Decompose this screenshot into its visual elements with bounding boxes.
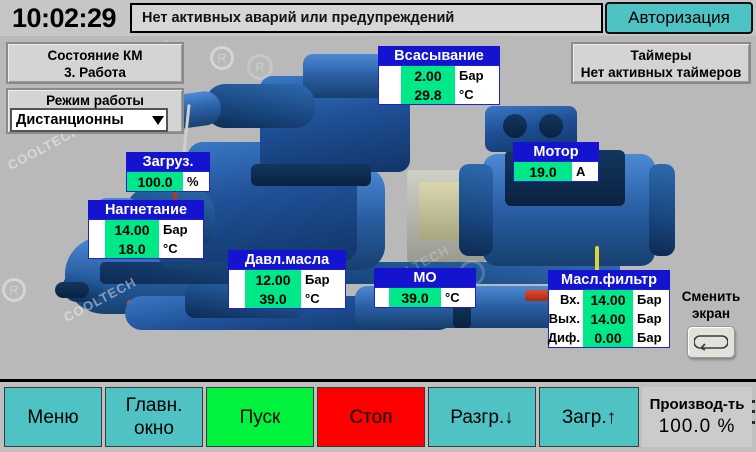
capacity-value: 100.0 % (659, 415, 736, 439)
motor-panel: Мотор 19.0 A (513, 142, 599, 182)
table-row: 18.0 °C (89, 239, 203, 258)
oil-pressure-rows: 12.00 Бар 39.0 °C (228, 269, 346, 309)
capacity-title: Производ-ть (650, 395, 745, 415)
motor-panel-title: Мотор (513, 142, 599, 161)
oil-filter-rows: Вх. 14.00 Бар Вых. 14.00 Бар Диф. 0.00 Б… (548, 289, 670, 348)
change-screen-label-line2: экран (668, 305, 754, 322)
discharge-panel: Нагнетание 14.00 Бар 18.0 °C (88, 200, 204, 259)
oil-filter-diff-unit: Бар (633, 328, 669, 347)
mo-panel: МО 39.0 °C (374, 268, 476, 308)
clock-display: 10:02:29 (0, 0, 128, 36)
suction-temperature-unit: °C (455, 85, 499, 104)
discharge-pressure-value: 14.00 (105, 220, 159, 239)
mo-panel-rows: 39.0 °C (374, 287, 476, 308)
oil-filter-diff-value: 0.00 (583, 328, 633, 347)
alarm-status-bar: Нет активных аварий или предупреждений (130, 3, 603, 33)
change-screen-button[interactable] (687, 326, 735, 358)
right-edge-indicator (751, 396, 755, 428)
oil-filter-inlet-value: 14.00 (583, 290, 633, 309)
start-button[interactable]: Пуск (206, 387, 314, 447)
oil-filter-inlet-unit: Бар (633, 290, 669, 309)
oil-filter-outlet-value: 14.00 (583, 309, 633, 328)
discharge-temperature-unit: °C (159, 239, 203, 258)
motor-current-unit: A (572, 162, 598, 181)
table-row: 14.00 Бар (89, 220, 203, 239)
table-row: 2.00 Бар (379, 66, 499, 85)
table-row: Вых. 14.00 Бар (549, 309, 669, 328)
chevron-down-icon[interactable] (152, 116, 164, 125)
discharge-row1-label (89, 239, 105, 258)
timers-value: Нет активных таймеров (573, 64, 749, 81)
capacity-readout: Производ-ть 100.0 % (642, 387, 752, 447)
unload-button[interactable]: Разгр.↓ (428, 387, 536, 447)
suction-panel-title: Всасывание (378, 46, 500, 65)
main-window-label-line2: окно (126, 417, 183, 440)
motor-panel-rows: 19.0 A (513, 161, 599, 182)
discharge-temperature-value: 18.0 (105, 239, 159, 258)
table-row: 39.0 °C (375, 288, 475, 307)
main-process-view: COOLTECH COOLTECH COOLTECH COOLTECH Сост… (0, 36, 756, 379)
load-button[interactable]: Загр.↑ (539, 387, 639, 447)
discharge-panel-rows: 14.00 Бар 18.0 °C (88, 219, 204, 259)
operating-mode-title: Режим работы (8, 92, 182, 109)
top-status-bar: 10:02:29 Нет активных аварий или предупр… (0, 0, 756, 36)
oil-pressure-unit: Бар (301, 270, 345, 289)
table-row: 29.8 °C (379, 85, 499, 104)
compressor-state-title: Состояние КМ (8, 47, 182, 64)
screen-switch-icon (694, 333, 728, 351)
suction-temperature-value: 29.8 (401, 85, 455, 104)
oil-pressure-row0-label (229, 270, 245, 289)
oil-filter-diff-label: Диф. (549, 328, 583, 347)
discharge-panel-title: Нагнетание (88, 200, 204, 219)
compressor-state-value: 3. Работа (8, 64, 182, 81)
load-percent-rows: 100.0 % (126, 171, 210, 192)
load-percent-value: 100.0 (127, 172, 183, 191)
main-window-label-line1: Главн. (126, 394, 183, 417)
change-screen-label-line1: Сменить (668, 288, 754, 305)
oil-temperature-value: 39.0 (245, 289, 301, 308)
oil-temperature-unit: °C (301, 289, 345, 308)
bottom-toolbar: Меню Главн. окно Пуск Стоп Разгр.↓ Загр.… (0, 379, 756, 452)
suction-panel-rows: 2.00 Бар 29.8 °C (378, 65, 500, 105)
oil-pressure-row1-label (229, 289, 245, 308)
load-percent-title: Загруз. (126, 152, 210, 171)
main-window-button[interactable]: Главн. окно (105, 387, 203, 447)
operating-mode-value: Дистанционны (16, 112, 124, 128)
mo-temperature-unit: °C (441, 288, 475, 307)
compressor-state-panel: Состояние КМ 3. Работа (6, 42, 184, 84)
stop-button[interactable]: Стоп (317, 387, 425, 447)
mo-temperature-value: 39.0 (389, 288, 441, 307)
oil-filter-inlet-label: Вх. (549, 290, 583, 309)
oil-filter-panel: Масл.фильтр Вх. 14.00 Бар Вых. 14.00 Бар… (548, 270, 670, 348)
discharge-row0-label (89, 220, 105, 239)
timers-title: Таймеры (573, 47, 749, 64)
mo-row0-label (375, 288, 389, 307)
discharge-pressure-unit: Бар (159, 220, 203, 239)
suction-row1-label (379, 85, 401, 104)
table-row: 100.0 % (127, 172, 209, 191)
authorization-button[interactable]: Авторизация (605, 2, 753, 34)
registered-icon (2, 278, 26, 302)
oil-filter-outlet-unit: Бар (633, 309, 669, 328)
suction-pressure-unit: Бар (455, 66, 499, 85)
hmi-screen: 10:02:29 Нет активных аварий или предупр… (0, 0, 756, 452)
load-percent-panel: Загруз. 100.0 % (126, 152, 210, 192)
table-row: 12.00 Бар (229, 270, 345, 289)
change-screen-control: Сменить экран (668, 288, 754, 358)
table-row: 39.0 °C (229, 289, 345, 308)
suction-row0-label (379, 66, 401, 85)
load-percent-unit: % (183, 172, 209, 191)
timers-panel: Таймеры Нет активных таймеров (571, 42, 751, 84)
suction-panel: Всасывание 2.00 Бар 29.8 °C (378, 46, 500, 105)
oil-filter-title: Масл.фильтр (548, 270, 670, 289)
oil-pressure-title: Давл.масла (228, 250, 346, 269)
menu-button[interactable]: Меню (4, 387, 102, 447)
oil-pressure-value: 12.00 (245, 270, 301, 289)
oil-filter-outlet-label: Вых. (549, 309, 583, 328)
table-row: Вх. 14.00 Бар (549, 290, 669, 309)
table-row: Диф. 0.00 Бар (549, 328, 669, 347)
mo-panel-title: МО (374, 268, 476, 287)
suction-pressure-value: 2.00 (401, 66, 455, 85)
motor-current-value: 19.0 (514, 162, 572, 181)
operating-mode-select[interactable]: Дистанционны (10, 108, 168, 132)
oil-pressure-panel: Давл.масла 12.00 Бар 39.0 °C (228, 250, 346, 309)
table-row: 19.0 A (514, 162, 598, 181)
